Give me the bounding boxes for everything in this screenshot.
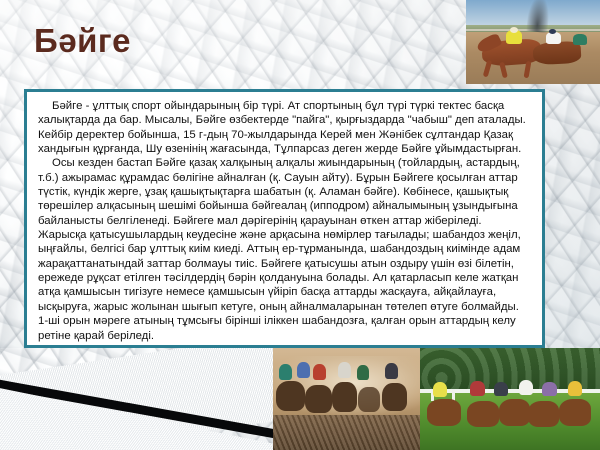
horse-silhouette xyxy=(499,399,530,426)
paragraph-1: Бәйге - ұлттық спорт ойындарының бір түр… xyxy=(38,99,531,156)
horse-silhouette xyxy=(305,385,331,414)
photo-ground xyxy=(273,415,420,450)
slide-root: Бәйге Бәйге - ұлттық спорт ойындарының б… xyxy=(0,0,600,450)
horse-silhouette xyxy=(276,381,305,412)
paragraph-2: Осы кезден бастап Бәйге қазақ халқының а… xyxy=(38,156,531,342)
jockey-silhouette xyxy=(568,381,582,396)
content-text-box: Бәйге - ұлттық спорт ойындарының бір түр… xyxy=(24,89,545,348)
jockey-silhouette xyxy=(338,362,351,377)
jockey-silhouette xyxy=(279,364,292,379)
horse-silhouette xyxy=(382,383,407,412)
horse-race-dust-photo xyxy=(273,348,420,450)
horse-silhouette xyxy=(358,387,380,413)
jockey-silhouette xyxy=(297,362,310,377)
page-title: Бәйге xyxy=(34,24,131,57)
jockey-helmet xyxy=(510,27,518,33)
jockey-silhouette xyxy=(385,363,398,378)
jockey-silhouette xyxy=(519,380,533,395)
jockey-silhouette xyxy=(470,381,484,396)
horse-silhouette xyxy=(467,401,499,427)
jockey-silhouette xyxy=(542,382,556,396)
horse-silhouette xyxy=(332,382,357,413)
horse-race-turf-photo xyxy=(420,348,600,450)
photo-smoke xyxy=(526,0,551,33)
jockey-silhouette xyxy=(433,382,447,397)
jockey-silhouette xyxy=(357,365,369,379)
horse-silhouette xyxy=(559,399,591,426)
jockey-silhouette xyxy=(494,382,508,396)
bottom-decoration-band xyxy=(0,348,600,450)
horse-silhouette xyxy=(427,399,461,426)
horse-silhouette xyxy=(528,401,559,427)
jockey-helmet xyxy=(549,29,556,34)
jockey-green xyxy=(573,34,586,45)
jockey-white xyxy=(546,32,561,44)
jockey-silhouette xyxy=(313,364,326,379)
horse-race-dirt-photo-top xyxy=(466,0,600,84)
